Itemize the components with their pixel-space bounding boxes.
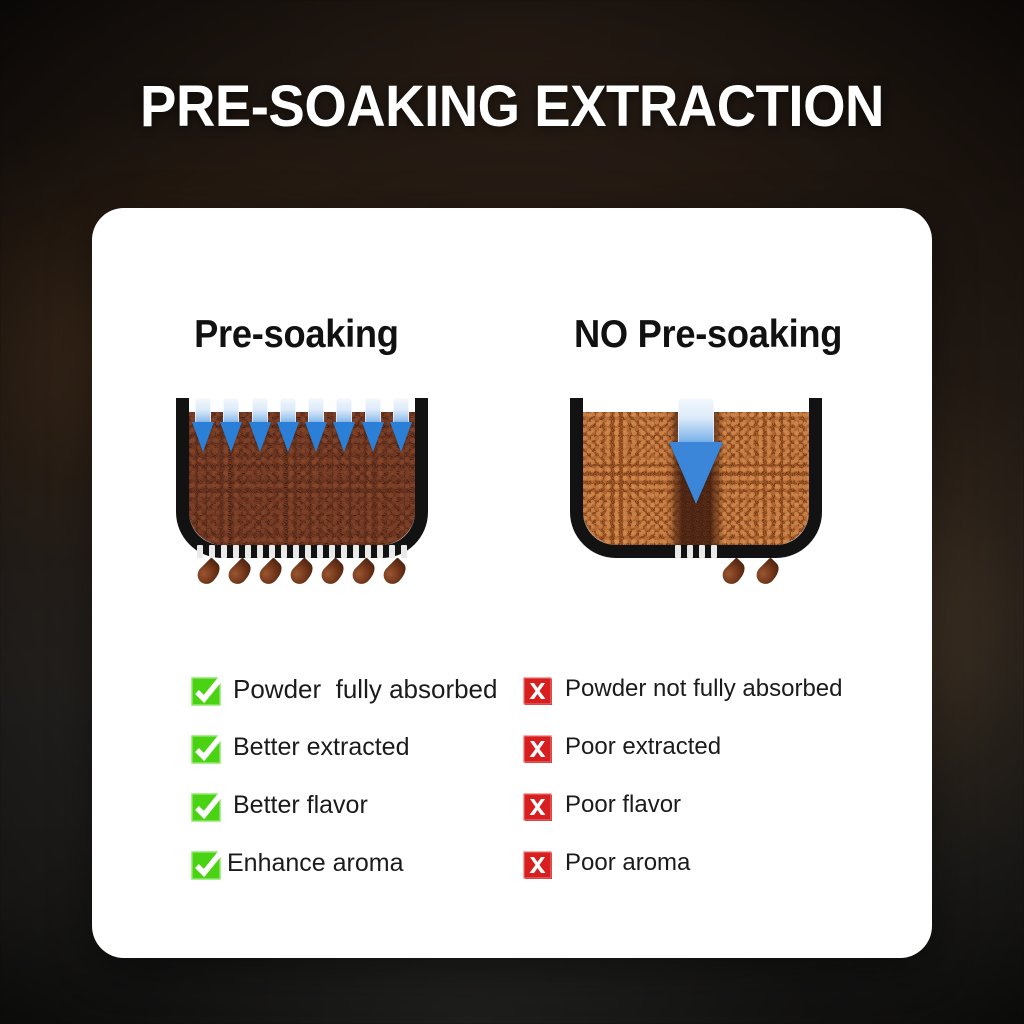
list-item: Better flavor	[192, 776, 502, 834]
list-item-label: Powder fully absorbed	[233, 676, 497, 702]
diagram-no-pre-soaking	[512, 400, 932, 610]
list-item: Poor flavor	[524, 776, 922, 834]
check-icon	[192, 734, 220, 761]
cross-icon	[524, 676, 552, 703]
coffee-drop-icon	[349, 557, 379, 587]
coffee-bed-clip	[189, 412, 415, 545]
column-heading-no-pre-soaking: NO Pre-soaking	[527, 313, 918, 357]
coffee-grounds-wet	[189, 412, 415, 545]
feature-list-no-pre-soaking: Powder not fully absorbed Poor extracted	[524, 660, 922, 892]
list-item: Poor aroma	[524, 834, 922, 892]
basket-perforations	[675, 545, 717, 558]
comparison-columns: Pre-soaking	[92, 208, 932, 958]
cross-icon	[524, 734, 552, 761]
list-item-label: Poor aroma	[565, 851, 690, 875]
diagram-pre-soaking	[92, 400, 512, 610]
coffee-drips-group	[725, 560, 777, 585]
comparison-card: Pre-soaking	[92, 208, 932, 958]
page-title: PRE-SOAKING EXTRACTION	[31, 78, 994, 136]
check-icon	[192, 850, 220, 877]
list-item: Enhance aroma	[192, 834, 502, 892]
feature-list-pre-soaking: Powder fully absorbed Better extracted	[192, 660, 502, 892]
coffee-drips-group	[200, 560, 404, 585]
list-item: Powder fully absorbed	[192, 660, 502, 718]
check-icon	[192, 792, 220, 819]
coffee-drop-icon	[318, 557, 348, 587]
list-item-label: Better extracted	[233, 735, 409, 760]
column-heading-pre-soaking: Pre-soaking	[107, 313, 498, 357]
check-icon	[192, 676, 220, 703]
coffee-drop-icon	[225, 557, 255, 587]
cross-icon	[524, 850, 552, 877]
coffee-drop-icon	[194, 557, 224, 587]
list-item-label: Powder not fully absorbed	[565, 677, 843, 701]
list-item-label: Poor extracted	[565, 735, 721, 759]
basket-perforations	[197, 545, 407, 558]
list-item: Powder not fully absorbed	[524, 660, 922, 718]
coffee-drop-icon	[380, 557, 410, 587]
list-item: Better extracted	[192, 718, 502, 776]
cross-icon	[524, 792, 552, 819]
list-item-label: Enhance aroma	[227, 851, 404, 876]
column-pre-soaking: Pre-soaking	[92, 208, 512, 958]
channeling-path	[668, 412, 724, 545]
list-item-label: Better flavor	[233, 793, 368, 818]
coffee-drop-icon	[287, 557, 317, 587]
portafilter-basket-icon	[176, 400, 428, 558]
column-no-pre-soaking: NO Pre-soaking	[512, 208, 932, 958]
coffee-bed-clip	[583, 412, 809, 545]
coffee-drop-icon	[753, 557, 783, 587]
coffee-drop-icon	[256, 557, 286, 587]
list-item-label: Poor flavor	[565, 793, 681, 817]
list-item: Poor extracted	[524, 718, 922, 776]
coffee-drop-icon	[719, 557, 749, 587]
portafilter-basket-icon	[570, 400, 822, 558]
